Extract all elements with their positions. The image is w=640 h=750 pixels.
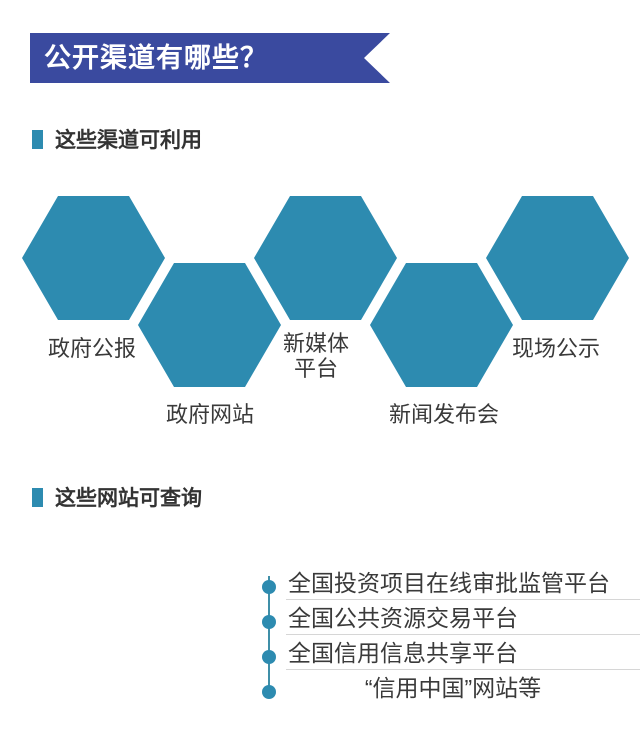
hexagon-shapes-icon bbox=[0, 180, 640, 440]
list-item-label: 全国信用信息共享平台 bbox=[288, 639, 518, 668]
bullet-dot-icon bbox=[262, 685, 276, 699]
list-item-underline bbox=[286, 669, 640, 670]
page-title: 公开渠道有哪些？ bbox=[44, 33, 268, 83]
list-item[interactable]: 全国信用信息共享平台 bbox=[262, 639, 640, 672]
hexagon-label-2: 政府网站 bbox=[150, 402, 270, 428]
section-heading-label: 这些网站可查询 bbox=[55, 482, 202, 512]
bullet-dot-icon bbox=[262, 650, 276, 664]
list-item-label: 全国投资项目在线审批监管平台 bbox=[288, 569, 610, 598]
hexagon-shape-5 bbox=[486, 196, 629, 320]
section-heading-websites: 这些网站可查询 bbox=[32, 482, 202, 512]
hexagon-label-4: 新闻发布会 bbox=[369, 402, 519, 428]
bullet-dot-icon bbox=[262, 615, 276, 629]
list-item-underline bbox=[286, 634, 640, 635]
hexagon-label-3: 新媒体 平台 bbox=[268, 332, 364, 381]
bullet-dot-icon bbox=[262, 580, 276, 594]
section-heading-channels: 这些渠道可利用 bbox=[32, 124, 202, 154]
hexagon-label-3-line1: 新媒体 bbox=[268, 332, 364, 357]
hexagon-cluster: 政府公报 政府网站 新媒体 平台 新闻发布会 现场公示 bbox=[0, 180, 640, 440]
header-banner: 公开渠道有哪些？ bbox=[30, 33, 390, 83]
list-item-underline bbox=[286, 599, 640, 600]
list-item[interactable]: 全国公共资源交易平台 bbox=[262, 604, 640, 637]
square-bullet-icon bbox=[32, 130, 43, 149]
hexagon-label-5: 现场公示 bbox=[496, 336, 616, 362]
section-heading-label: 这些渠道可利用 bbox=[55, 124, 202, 154]
list-item-label: “信用中国”网站等 bbox=[288, 674, 618, 703]
hexagon-shape-2 bbox=[138, 263, 281, 387]
hexagon-label-1: 政府公报 bbox=[32, 336, 152, 362]
website-list: 全国投资项目在线审批监管平台 全国公共资源交易平台 全国信用信息共享平台 “信用… bbox=[262, 560, 640, 710]
hexagon-shape-3 bbox=[254, 196, 397, 320]
list-item-label: 全国公共资源交易平台 bbox=[288, 604, 518, 633]
hexagon-label-3-line2: 平台 bbox=[268, 357, 364, 382]
square-bullet-icon bbox=[32, 488, 43, 507]
list-item[interactable]: “信用中国”网站等 bbox=[262, 674, 640, 707]
hexagon-shape-1 bbox=[22, 196, 165, 320]
hexagon-shape-4 bbox=[370, 263, 513, 387]
list-item[interactable]: 全国投资项目在线审批监管平台 bbox=[262, 569, 640, 602]
